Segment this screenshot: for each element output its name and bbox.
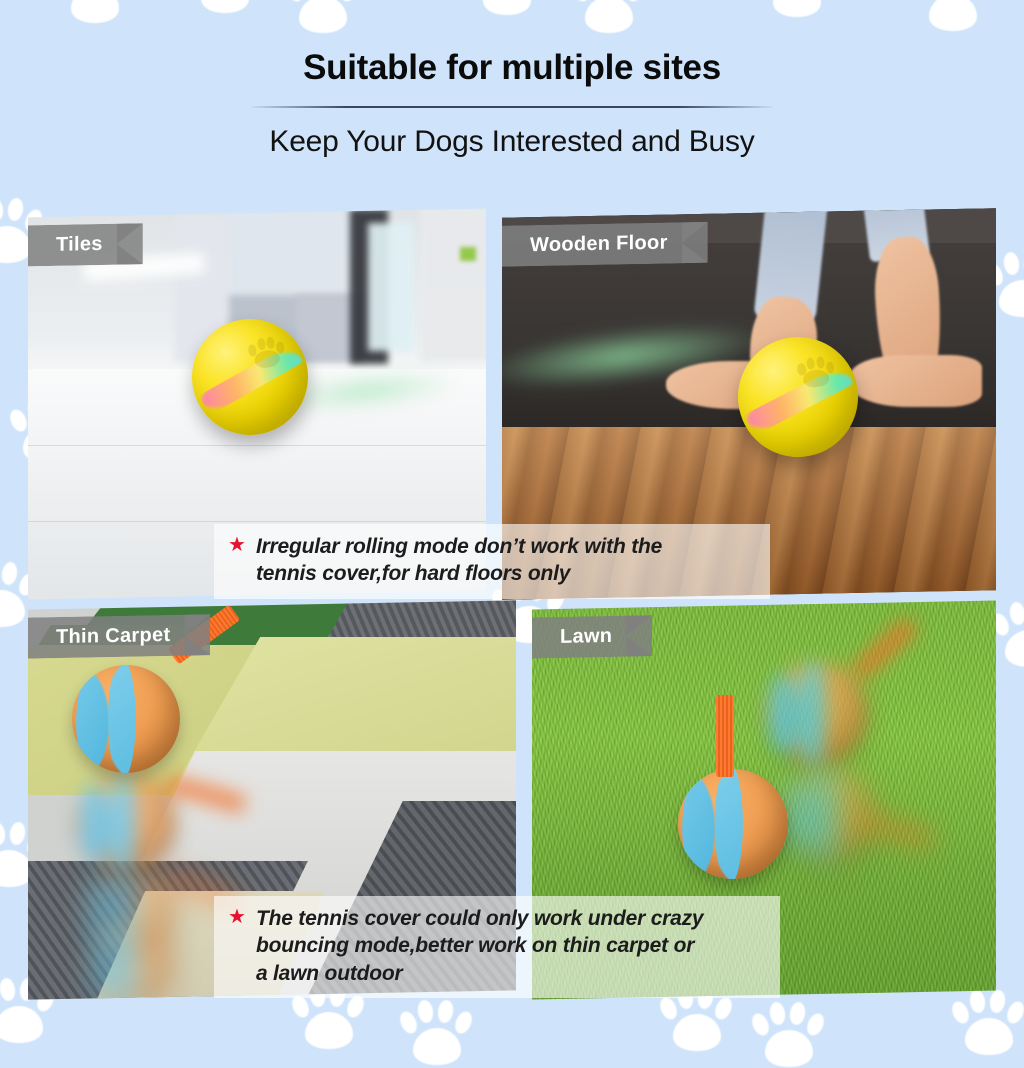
panel-label-text: Lawn [560, 625, 612, 649]
ribbon-notch [117, 223, 143, 264]
ball-motion-ghost [780, 767, 876, 863]
blue-stripe [72, 667, 109, 773]
panel-label-lawn: Lawn [532, 615, 652, 658]
ball-motion-ghost [86, 921, 174, 1000]
caption-line: The tennis cover could only work under c… [256, 905, 703, 932]
paw-print-icon [952, 988, 1024, 1056]
page-title: Suitable for multiple sites [0, 48, 1024, 88]
paw-emboss-icon [794, 352, 838, 392]
caption-text: Irregular rolling mode don’t work with t… [256, 533, 662, 588]
title-divider [252, 106, 772, 108]
caption-line: Irregular rolling mode don’t work with t… [256, 533, 662, 560]
orange-tennis-cover-ball [72, 665, 180, 773]
ribbon-notch [682, 222, 708, 263]
ball-strap [716, 695, 734, 777]
ball-motion-ghost [764, 661, 868, 765]
paw-print-icon [400, 998, 474, 1066]
paw-emboss-icon [245, 332, 289, 372]
star-icon: ★ [228, 533, 246, 558]
panel-label-text: Wooden Floor [530, 232, 668, 258]
panel-label-thin-carpet: Thin Carpet [28, 614, 210, 659]
star-icon: ★ [228, 905, 246, 930]
paw-print-icon [752, 1000, 826, 1068]
blue-stripe [678, 771, 715, 879]
orange-tennis-cover-ball [678, 769, 788, 879]
panel-label-text: Tiles [56, 233, 103, 257]
ball-body [678, 769, 788, 879]
caption-line: bouncing mode,better work on thin carpet… [256, 932, 703, 959]
caption-line: tennis cover,for hard floors only [256, 560, 662, 587]
panel-label-text: Thin Carpet [56, 624, 170, 649]
ball-motion-ghost [76, 771, 176, 871]
panel-label-tiles: Tiles [28, 223, 143, 266]
ribbon-notch [626, 615, 652, 656]
ribbon-notch [184, 614, 210, 655]
blue-stripe [104, 665, 167, 773]
caption-hard-floors: ★ Irregular rolling mode don’t work with… [214, 524, 770, 599]
blue-stripe [711, 769, 775, 879]
page-subtitle: Keep Your Dogs Interested and Busy [0, 125, 1024, 159]
panel-label-wooden-floor: Wooden Floor [502, 222, 708, 267]
ball-body [72, 665, 180, 773]
caption-text: The tennis cover could only work under c… [256, 905, 703, 987]
caption-tennis-cover: ★ The tennis cover could only work under… [214, 896, 780, 998]
paw-print-icon [992, 600, 1024, 668]
header: Suitable for multiple sites Keep Your Do… [0, 0, 1024, 159]
caption-line: a lawn outdoor [256, 960, 703, 987]
site-gallery-grid: Tiles Wooden Floor [28, 213, 996, 995]
